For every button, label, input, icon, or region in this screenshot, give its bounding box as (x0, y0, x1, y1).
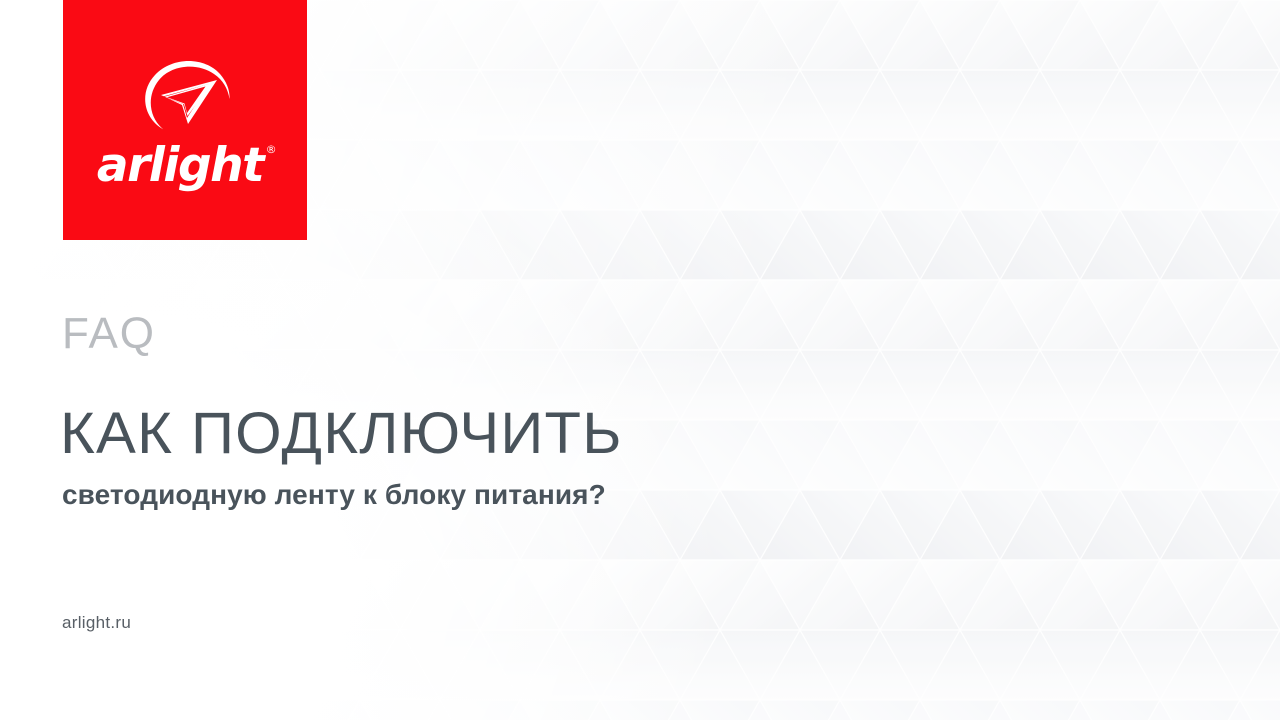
page-title: КАК ПОДКЛЮЧИТЬ (60, 405, 623, 463)
page-subtitle: светодиодную ленту к блоку питания? (62, 481, 606, 509)
site-url-label: arlight.ru (62, 614, 131, 631)
slide-content: FAQ КАК ПОДКЛЮЧИТЬ светодиодную ленту к … (0, 0, 1280, 720)
slide-canvas: arlight ® FAQ КАК ПОДКЛЮЧИТЬ светодиодну… (0, 0, 1280, 720)
eyebrow-label: FAQ (62, 312, 156, 356)
